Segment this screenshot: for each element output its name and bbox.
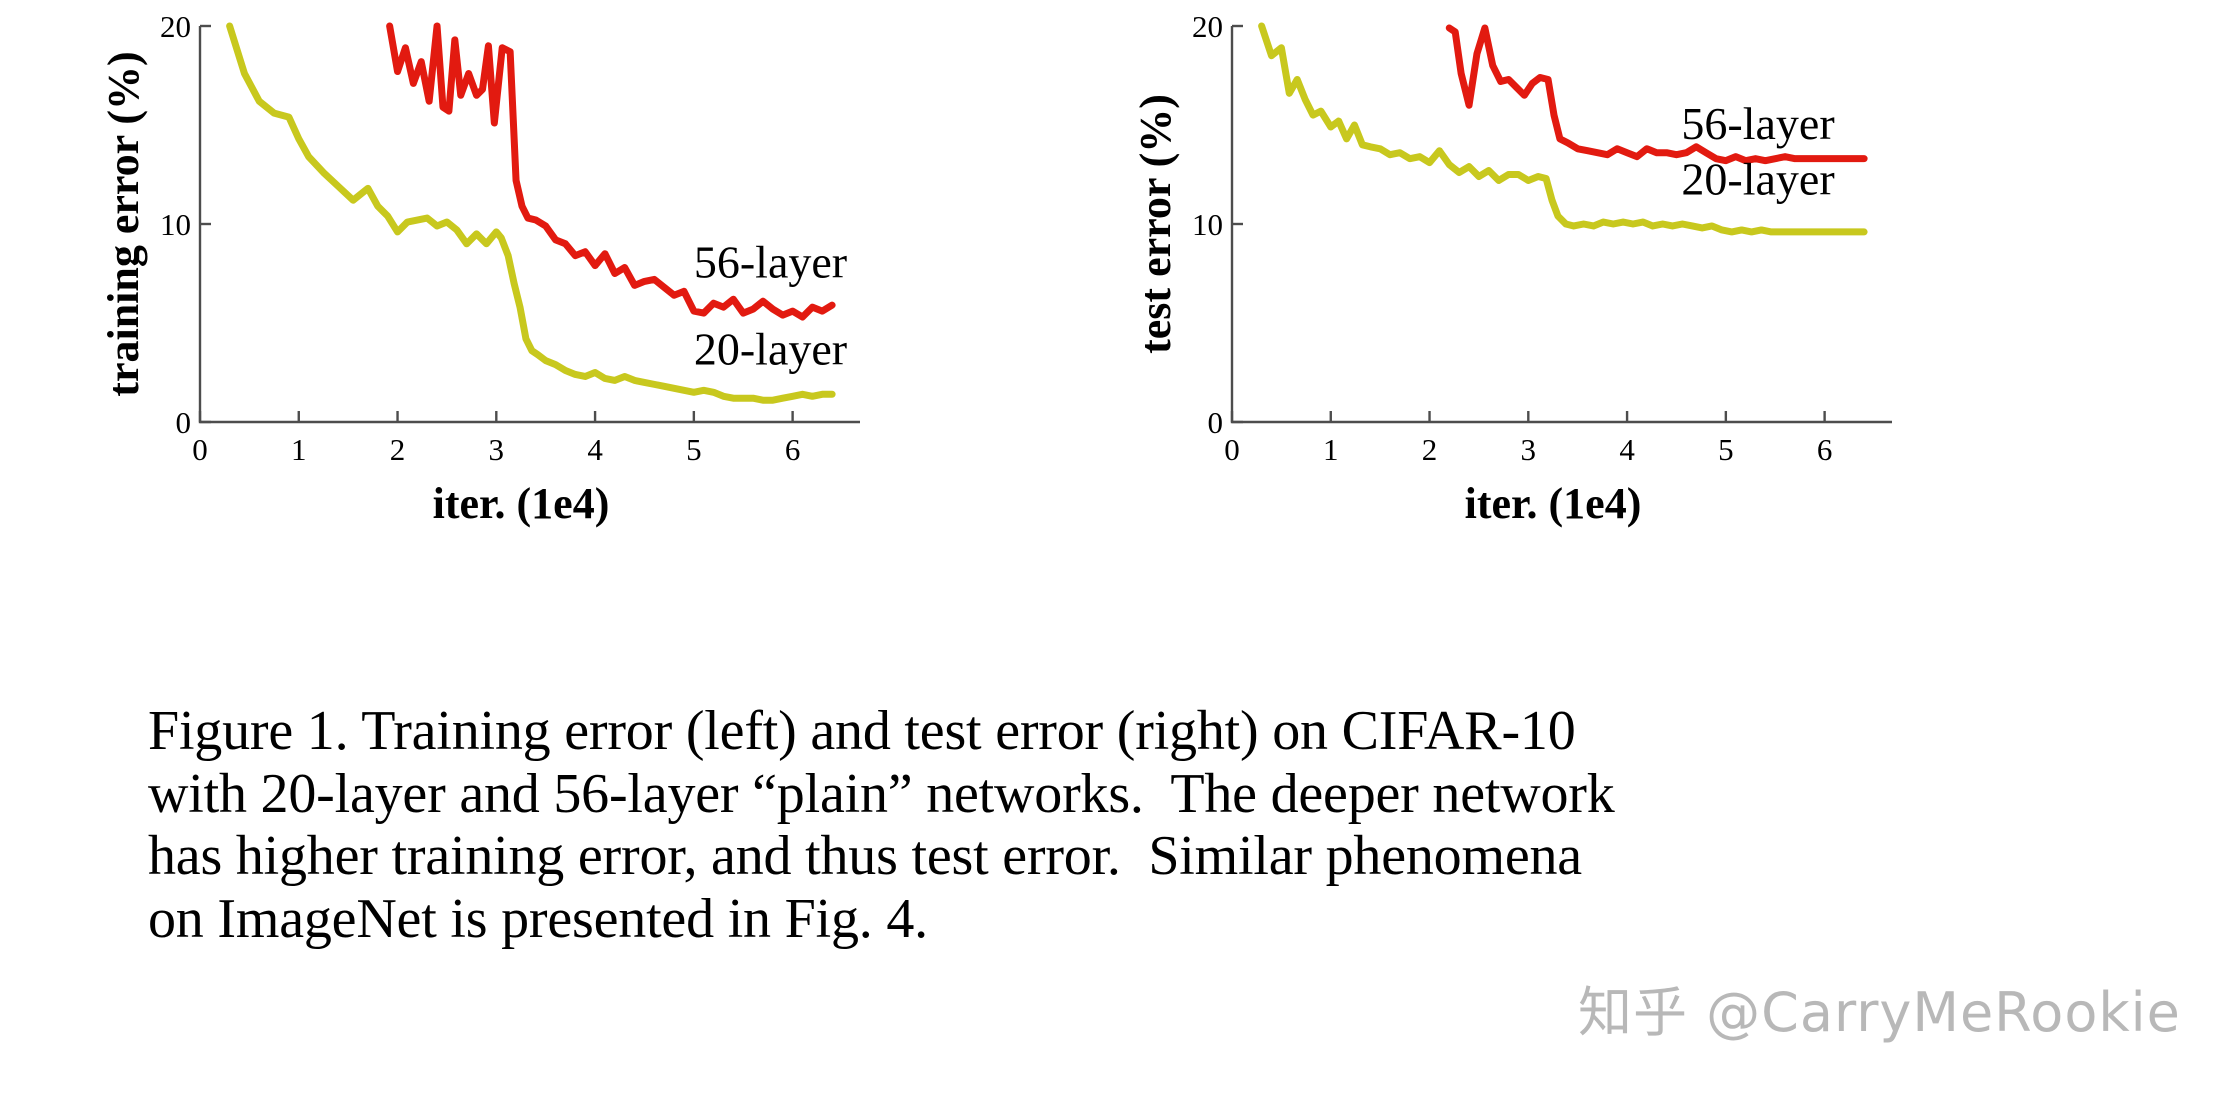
test-error-xtick-label-3: 3 [1521, 432, 1537, 467]
training-error-xtick-label-2: 2 [390, 432, 406, 467]
test-error-ytick-label-20: 20 [1192, 9, 1223, 44]
test-error-annotation-56-layer: 56-layer [1681, 98, 1834, 149]
training-error-xtick-label-0: 0 [192, 432, 208, 467]
caption-line-2: with 20-layer and 56-layer “plain” netwo… [148, 763, 2148, 826]
test-error-annotation-20-layer: 20-layer [1681, 153, 1834, 204]
training-error-annotation-56-layer: 56-layer [694, 236, 847, 287]
test-error-ylabel: test error (%) [1131, 94, 1180, 354]
test-error-xtick-label-6: 6 [1817, 432, 1833, 467]
figure-panels: 01020012345656-layer20-layeriter. (1e4)t… [0, 0, 2232, 690]
training-error-xtick-label-3: 3 [489, 432, 505, 467]
training-error-xtick-label-5: 5 [686, 432, 702, 467]
chart-panel-test-error: 01020012345656-layer20-layeriter. (1e4)t… [1152, 0, 2212, 690]
training-error-xtick-label-4: 4 [587, 432, 603, 467]
training-error-ylabel: training error (%) [99, 51, 148, 396]
training-error-xtick-label-1: 1 [291, 432, 307, 467]
training-error-ytick-label-20: 20 [160, 9, 191, 44]
test-error-xtick-label-0: 0 [1224, 432, 1240, 467]
test-error-xlabel: iter. (1e4) [1465, 479, 1642, 528]
figure-caption: Figure 1. Training error (left) and test… [148, 700, 2148, 951]
training-error-annotation-20-layer: 20-layer [694, 324, 847, 375]
test-error-xtick-label-2: 2 [1422, 432, 1438, 467]
training-error-svg: 01020012345656-layer20-layeriter. (1e4)t… [120, 0, 1180, 690]
test-error-xtick-label-1: 1 [1323, 432, 1339, 467]
caption-line-1: Figure 1. Training error (left) and test… [148, 700, 2148, 763]
training-error-ytick-label-0: 0 [176, 405, 192, 440]
test-error-svg: 01020012345656-layer20-layeriter. (1e4)t… [1152, 0, 2212, 690]
test-error-xtick-label-4: 4 [1619, 432, 1635, 467]
caption-line-4: on ImageNet is presented in Fig. 4. [148, 888, 2148, 951]
figure-page: 01020012345656-layer20-layeriter. (1e4)t… [0, 0, 2232, 1112]
chart-panel-training-error: 01020012345656-layer20-layeriter. (1e4)t… [120, 0, 1180, 690]
training-error-ytick-label-10: 10 [160, 207, 191, 242]
training-error-xtick-label-6: 6 [785, 432, 801, 467]
test-error-xtick-label-5: 5 [1718, 432, 1734, 467]
caption-line-3: has higher training error, and thus test… [148, 825, 2148, 888]
test-error-ytick-label-0: 0 [1208, 405, 1224, 440]
test-error-ytick-label-10: 10 [1192, 207, 1223, 242]
training-error-xlabel: iter. (1e4) [433, 479, 610, 528]
watermark-text: 知乎 @CarryMeRookie [1578, 968, 2181, 1047]
